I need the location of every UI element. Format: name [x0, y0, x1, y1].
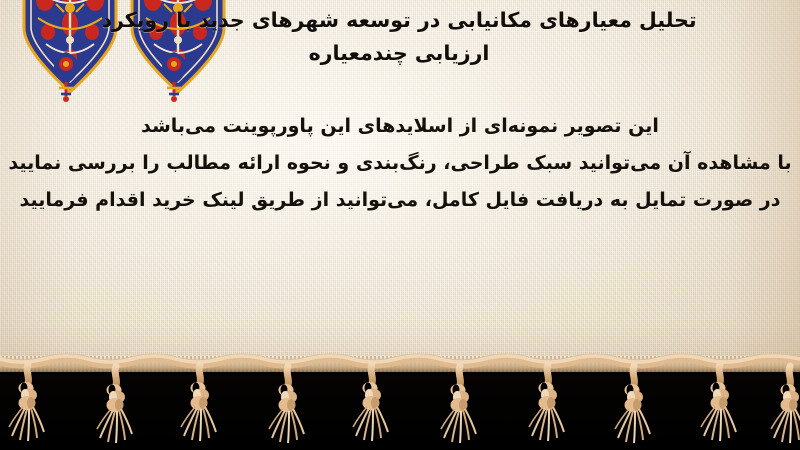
slide-body-line-2: با مشاهده آن می‌توانید سبک طراحی، رنگ‌بن… — [0, 145, 800, 182]
slide-text-layer: تحلیل معیارهای مکانیابی در توسعه شهرهای … — [0, 0, 800, 372]
slide-body-line-1: این تصویر نمونه‌ای از اسلایدهای این پاور… — [0, 108, 800, 145]
slide-title-line-1: تحلیل معیارهای مکانیابی در توسعه شهرهای … — [101, 8, 696, 32]
slide-title-line-2: ارزیابی چندمعیاره — [16, 37, 782, 70]
knotted-carpet-fringe-icon — [0, 352, 800, 450]
slide-body-line-3: در صورت تمایل به دریافت فایل کامل، می‌تو… — [0, 182, 800, 219]
slide-title: تحلیل معیارهای مکانیابی در توسعه شهرهای … — [16, 4, 782, 70]
slide-body: این تصویر نمونه‌ای از اسلایدهای این پاور… — [0, 108, 800, 219]
presentation-slide: تحلیل معیارهای مکانیابی در توسعه شهرهای … — [0, 0, 800, 450]
